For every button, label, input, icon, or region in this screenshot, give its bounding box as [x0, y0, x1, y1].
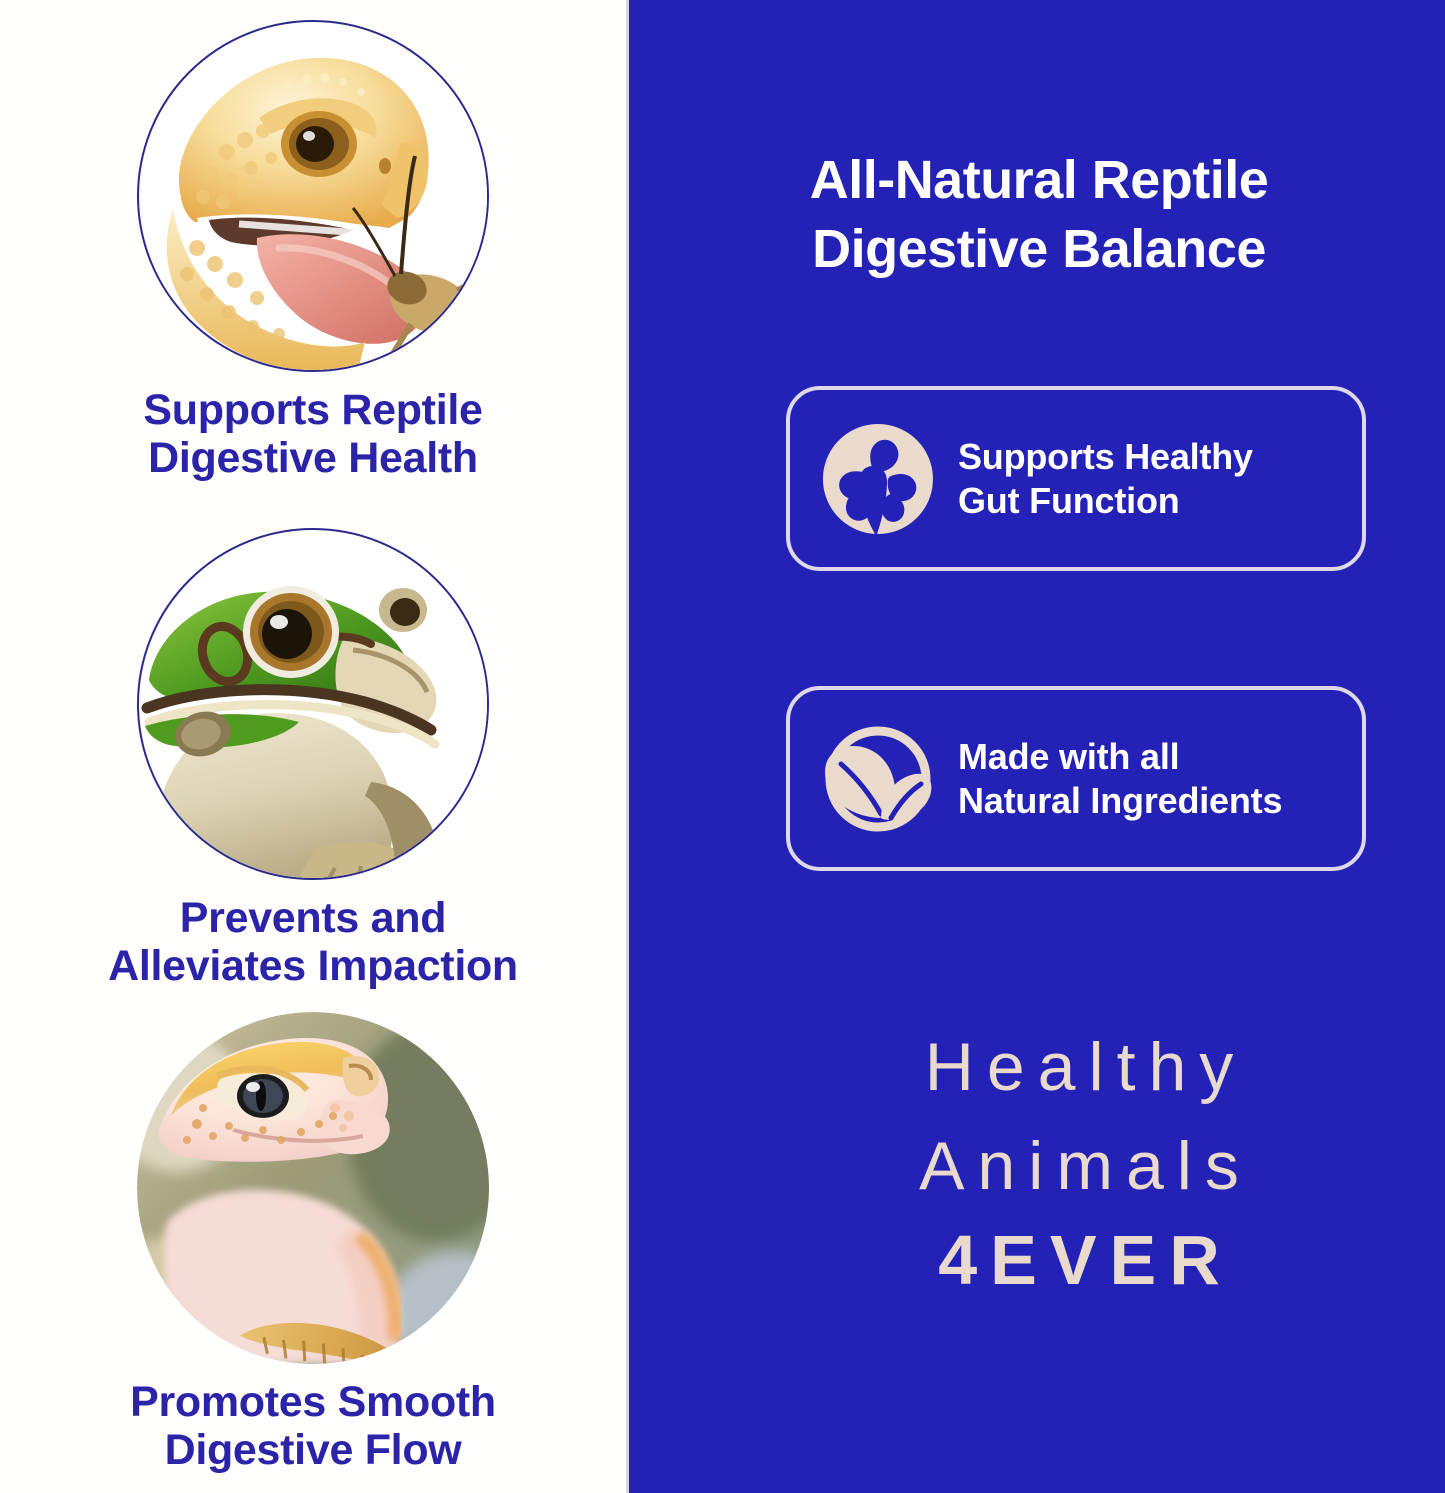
- product-infographic: Supports Reptile Digestive Health: [0, 0, 1445, 1493]
- tree-frog-illustration: [139, 530, 489, 880]
- brand-line-4ever: 4EVER: [774, 1215, 1384, 1306]
- benefit-badge-text: Supports Healthy Gut Function: [958, 435, 1253, 523]
- caption-line: Promotes Smooth: [24, 1378, 602, 1426]
- brand-panel: All-Natural Reptile Digestive Balance Su…: [626, 0, 1445, 1493]
- benefit-badge-text: Made with all Natural Ingredients: [958, 735, 1282, 823]
- feature-caption: Prevents and Alleviates Impaction: [0, 894, 626, 990]
- benefit-badge-gut-function: Supports Healthy Gut Function: [786, 386, 1366, 571]
- benefit-badge-natural-ingredients: Made with all Natural Ingredients: [786, 686, 1366, 871]
- natural-leaves-icon: [814, 715, 942, 843]
- bearded-dragon-illustration: [139, 22, 489, 372]
- leopard-gecko-illustration: [137, 1012, 489, 1364]
- badge-text-line: Made with all: [958, 735, 1282, 779]
- gut-flora-icon: [814, 415, 942, 543]
- panel-title: All-Natural Reptile Digestive Balance: [679, 146, 1399, 284]
- green-tree-frog-photo: [137, 528, 489, 880]
- brand-logo: Healthy Animals 4EVER: [774, 1018, 1384, 1306]
- caption-line: Digestive Flow: [24, 1426, 602, 1474]
- brand-line-animals: Animals: [774, 1117, 1384, 1216]
- leopard-gecko-with-mealworm-photo: [137, 1012, 489, 1364]
- caption-line: Alleviates Impaction: [24, 942, 602, 990]
- panel-title-line: All-Natural Reptile: [679, 146, 1399, 215]
- panel-title-line: Digestive Balance: [679, 215, 1399, 284]
- badge-text-line: Gut Function: [958, 479, 1253, 523]
- feature-column: Supports Reptile Digestive Health: [0, 0, 626, 1493]
- feature-item: Supports Reptile Digestive Health: [0, 20, 626, 482]
- brand-line-healthy: Healthy: [774, 1018, 1384, 1117]
- caption-line: Supports Reptile: [24, 386, 602, 434]
- caption-line: Prevents and: [24, 894, 602, 942]
- caption-line: Digestive Health: [24, 434, 602, 482]
- badge-text-line: Supports Healthy: [958, 435, 1253, 479]
- feature-item: Promotes Smooth Digestive Flow: [0, 1012, 626, 1474]
- feature-caption: Promotes Smooth Digestive Flow: [0, 1378, 626, 1474]
- feature-item: Prevents and Alleviates Impaction: [0, 528, 626, 990]
- bearded-dragon-eating-cricket-photo: [137, 20, 489, 372]
- badge-text-line: Natural Ingredients: [958, 779, 1282, 823]
- feature-caption: Supports Reptile Digestive Health: [0, 386, 626, 482]
